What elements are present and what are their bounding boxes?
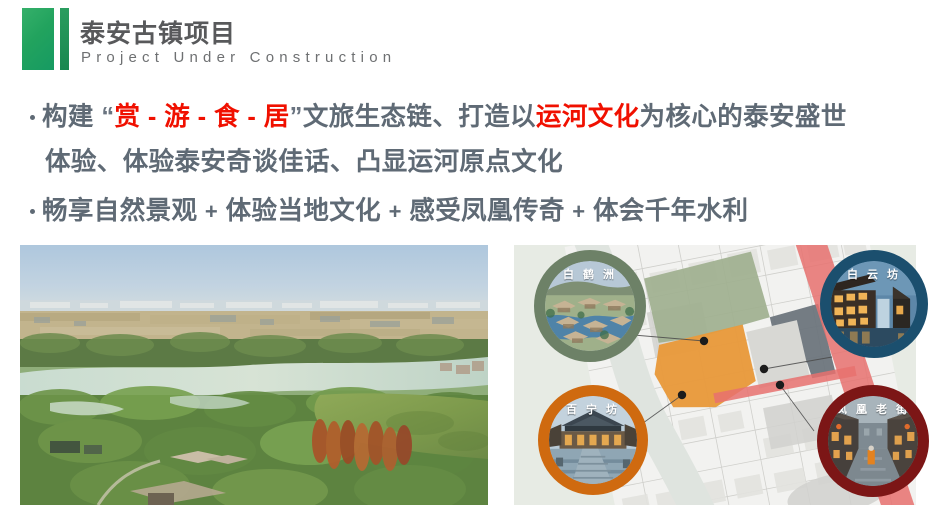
bullet-dot-icon — [30, 115, 35, 120]
bullet-list: 构建 “赏 - 游 - 食 - 居”文旅生态链、打造以运河文化为核心的泰安盛世 … — [0, 95, 934, 234]
bullet2-plus-1: + — [205, 199, 218, 224]
bullet2-part1: 畅享自然景观 — [42, 197, 197, 225]
bullet1-line2: 体验、体验泰安奇谈佳话、凸显运河原点文化 — [45, 148, 563, 176]
bullet-dot-icon — [30, 209, 35, 214]
accent-bar-wide — [22, 8, 54, 70]
poi-circle-fenghuanglaojie[interactable]: 凤 凰 老 街 — [817, 385, 929, 497]
bullet1-seg2: 文旅生态链、打造以 — [303, 103, 536, 131]
bullet1-quote-open: “ — [101, 103, 114, 131]
bullet1-seg1: 构建 — [42, 103, 94, 131]
bullet2-part4: 体会千年水利 — [593, 197, 748, 225]
slide-header: 泰安古镇项目 Project Under Construction — [0, 0, 934, 88]
poi-label-bainingfang: 百 宁 坊 — [549, 401, 637, 417]
bullet2-plus-2: + — [389, 199, 402, 224]
master-plan-panel: 白 鹤 洲 — [514, 245, 916, 505]
poi-circle-bainingfang[interactable]: 百 宁 坊 — [538, 385, 648, 495]
poi-label-fenghuanglaojie: 凤 凰 老 街 — [828, 401, 918, 417]
bullet2-part3: 感受凤凰传奇 — [409, 197, 564, 225]
bullet1-seg3: 为核心的泰安盛世 — [640, 103, 847, 131]
bullet-item-1: 构建 “赏 - 游 - 食 - 居”文旅生态链、打造以运河文化为核心的泰安盛世 — [0, 95, 934, 140]
poi-circle-baiyunfang[interactable]: 白 云 坊 — [820, 250, 928, 358]
page-subtitle: Project Under Construction — [81, 49, 396, 66]
bullet-item-2: 畅享自然景观 + 体验当地文化 + 感受凤凰传奇 + 体会千年水利 — [0, 189, 934, 234]
bullet1-quote-close: ” — [290, 103, 303, 131]
aerial-photo — [20, 245, 488, 505]
bullet2-plus-3: + — [572, 199, 585, 224]
aerial-photo-graphic — [20, 245, 488, 505]
poi-label-baihezhou: 白 鹤 洲 — [545, 266, 635, 282]
poi-circle-baihezhou[interactable]: 白 鹤 洲 — [534, 250, 646, 362]
bullet2-part2: 体验当地文化 — [226, 197, 381, 225]
page-title: 泰安古镇项目 — [80, 14, 236, 50]
accent-bar-thin — [60, 8, 69, 70]
bullet1-highlight-2: 运河文化 — [536, 103, 640, 131]
bullet1-highlight-1: 赏 - 游 - 食 - 居 — [114, 103, 289, 131]
bullet-item-1-continuation: 体验、体验泰安奇谈佳话、凸显运河原点文化 — [0, 140, 934, 185]
poi-label-baiyunfang: 白 云 坊 — [831, 266, 917, 282]
